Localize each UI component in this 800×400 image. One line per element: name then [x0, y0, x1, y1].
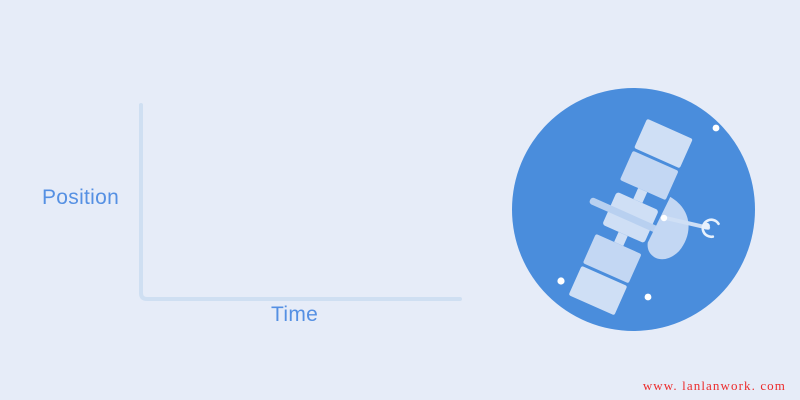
x-axis-line	[141, 293, 460, 299]
x-axis-label: Time	[271, 303, 318, 327]
star-dot	[713, 125, 720, 132]
star-dot	[557, 277, 564, 284]
satellite-svg	[512, 88, 755, 331]
star-dot	[645, 294, 652, 301]
watermark-text: www. lanlanwork. com	[643, 378, 786, 394]
y-axis-label: Position	[42, 186, 119, 210]
satellite-illustration	[512, 88, 755, 331]
star-dot	[661, 215, 667, 221]
screenshot-canvas: Position Time	[0, 0, 800, 400]
